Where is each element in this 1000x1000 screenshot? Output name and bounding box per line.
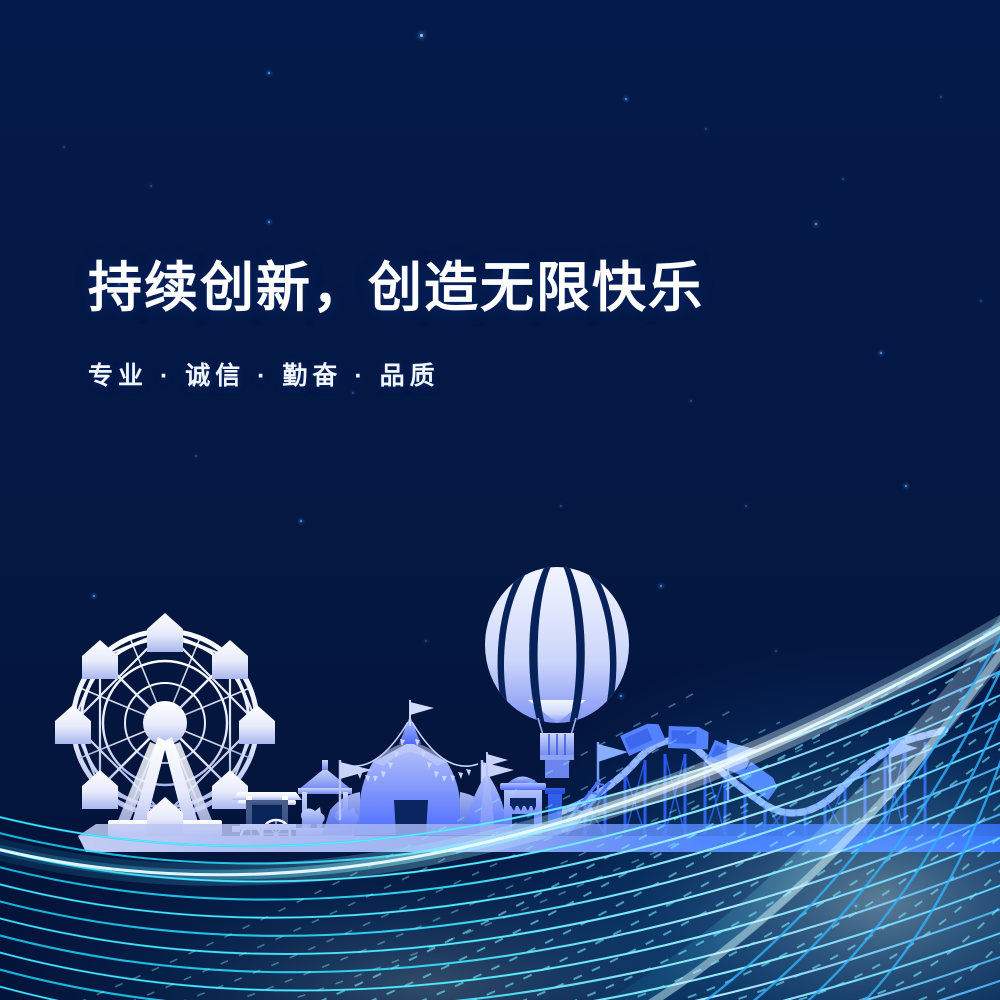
page-title: 持续创新，创造无限快乐 (88, 258, 704, 318)
page-subtitle: 专业 · 诚信 · 勤奋 · 品质 (88, 318, 704, 392)
headline-block: 持续创新，创造无限快乐 专业 · 诚信 · 勤奋 · 品质 (88, 258, 704, 392)
glow-wave (0, 0, 1000, 1000)
poster-root: 持续创新，创造无限快乐 专业 · 诚信 · 勤奋 · 品质 (0, 0, 1000, 1000)
